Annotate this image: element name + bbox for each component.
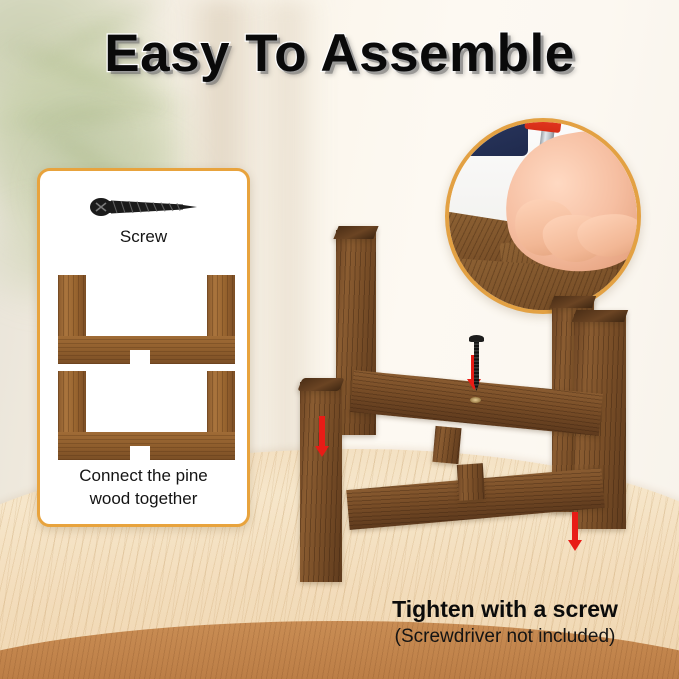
parts-card: Screw Connect the pine wood together	[37, 168, 250, 527]
stand-post-top-face	[297, 378, 344, 391]
arrow-left-beam-down	[314, 416, 329, 461]
stand-post-top-face	[572, 310, 628, 322]
arrow-right-post-down	[567, 512, 582, 554]
stand-tenon-lower	[457, 463, 485, 501]
screw-label: Screw	[40, 227, 247, 247]
bottom-caption-main: Tighten with a screw	[340, 596, 670, 623]
stand-tenon-upper	[432, 426, 461, 464]
page-title: Easy To Assemble	[0, 23, 679, 84]
screw-icon	[40, 193, 247, 223]
stand-post-top-face	[550, 296, 596, 308]
screw-icon	[472, 335, 481, 391]
caption-line-2: wood together	[50, 488, 237, 511]
parts-card-caption: Connect the pine wood together	[50, 465, 237, 510]
stand-post-front-left	[300, 382, 342, 582]
assembled-wooden-plant-stand	[282, 222, 679, 597]
product-infographic: Easy To Assemble Screw	[0, 0, 679, 679]
bottom-caption-sub: (Screwdriver not included)	[340, 626, 670, 648]
pine-u-piece-bottom	[58, 371, 235, 460]
pine-u-piece-top	[58, 275, 235, 364]
pilot-hole	[470, 397, 481, 403]
stand-post-top-face	[333, 226, 378, 239]
caption-line-1: Connect the pine	[50, 465, 237, 488]
